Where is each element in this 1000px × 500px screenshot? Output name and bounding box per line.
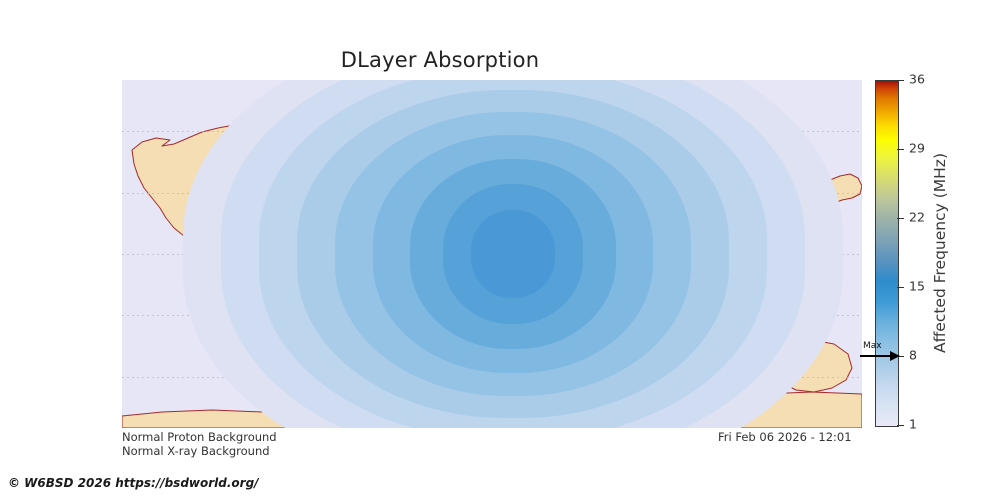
land-antarctica bbox=[122, 392, 862, 428]
tick-mark bbox=[897, 218, 904, 219]
land-madagascar bbox=[610, 328, 628, 360]
colorbar-gradient bbox=[876, 81, 898, 426]
page-title: DLayer Absorption bbox=[0, 48, 880, 72]
land-north-america bbox=[132, 124, 362, 296]
tick-label: 36 bbox=[909, 73, 925, 86]
tick-mark bbox=[897, 149, 904, 150]
tick-mark bbox=[897, 287, 904, 288]
proton-background-note: Normal Proton Background bbox=[122, 430, 277, 444]
tick-mark bbox=[897, 425, 904, 426]
land-greenland bbox=[328, 108, 390, 154]
tick-label: 8 bbox=[909, 349, 917, 362]
tick-label: 1 bbox=[909, 418, 917, 431]
land-southeast-asia bbox=[716, 276, 744, 300]
land-africa bbox=[466, 224, 602, 384]
land-australia bbox=[766, 340, 852, 392]
land-india bbox=[674, 250, 702, 292]
coastline-layer bbox=[122, 80, 862, 428]
timestamp: Fri Feb 06 2026 - 12:01 bbox=[718, 430, 852, 444]
land-japan bbox=[808, 224, 824, 250]
tick-label: 29 bbox=[909, 142, 925, 155]
max-annotation: Max bbox=[860, 341, 902, 363]
tick-label: 15 bbox=[909, 280, 925, 293]
map-canvas[interactable] bbox=[122, 80, 862, 428]
tick-mark bbox=[897, 80, 904, 81]
colorbar[interactable] bbox=[875, 80, 899, 427]
tick-label: 22 bbox=[909, 211, 925, 224]
figure-root: DLayer Absorption bbox=[0, 0, 1000, 500]
colorbar-axis-label: Affected Frequency (MHz) bbox=[928, 80, 952, 425]
xray-background-note: Normal X-ray Background bbox=[122, 444, 270, 458]
land-indonesia bbox=[748, 308, 800, 324]
credit-line: © W6BSD 2026 https://bsdworld.org/ bbox=[8, 476, 259, 490]
right-arrow-icon bbox=[860, 350, 900, 362]
land-south-america bbox=[304, 278, 410, 410]
